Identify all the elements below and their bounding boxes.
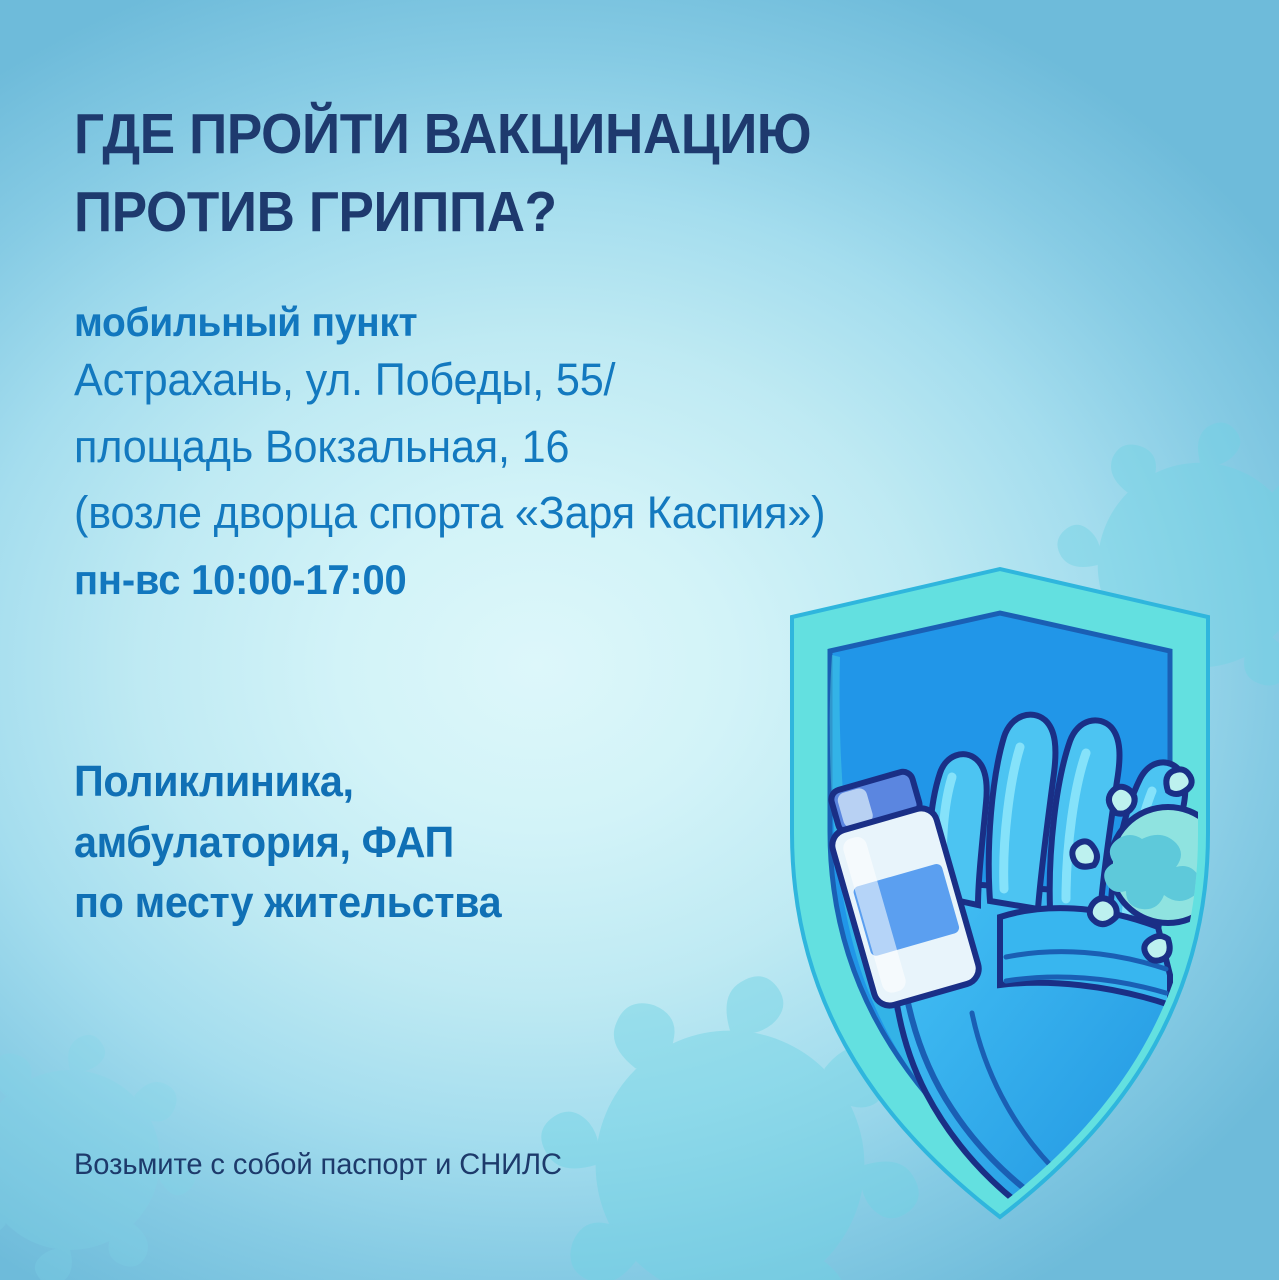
address-line-3: (возле дворца спорта «Заря Каспия») <box>74 480 1149 547</box>
vaccination-poster: ГДЕ ПРОЙТИ ВАКЦИНАЦИЮ ПРОТИВ ГРИППА? моб… <box>0 0 1279 1280</box>
footnote-bring-documents: Возьмите с собой паспорт и СНИЛС <box>74 1148 562 1182</box>
page-title: ГДЕ ПРОЙТИ ВАКЦИНАЦИЮ ПРОТИВ ГРИППА? <box>74 96 1060 251</box>
mobile-point-heading: мобильный пункт <box>74 297 1138 347</box>
mobile-point-hours: пн-вс 10:00-17:00 <box>74 553 1138 608</box>
mobile-point-block: мобильный пункт Астрахань, ул. Победы, 5… <box>74 297 1194 607</box>
text-content: ГДЕ ПРОЙТИ ВАКЦИНАЦИЮ ПРОТИВ ГРИППА? моб… <box>0 0 1279 1280</box>
address-line-1: Астрахань, ул. Победы, 55/ <box>74 347 1149 414</box>
address-line-2: площадь Вокзальная, 16 <box>74 414 1149 481</box>
clinic-block: Поликлиника, амбулатория, ФАП по месту ж… <box>74 752 788 934</box>
